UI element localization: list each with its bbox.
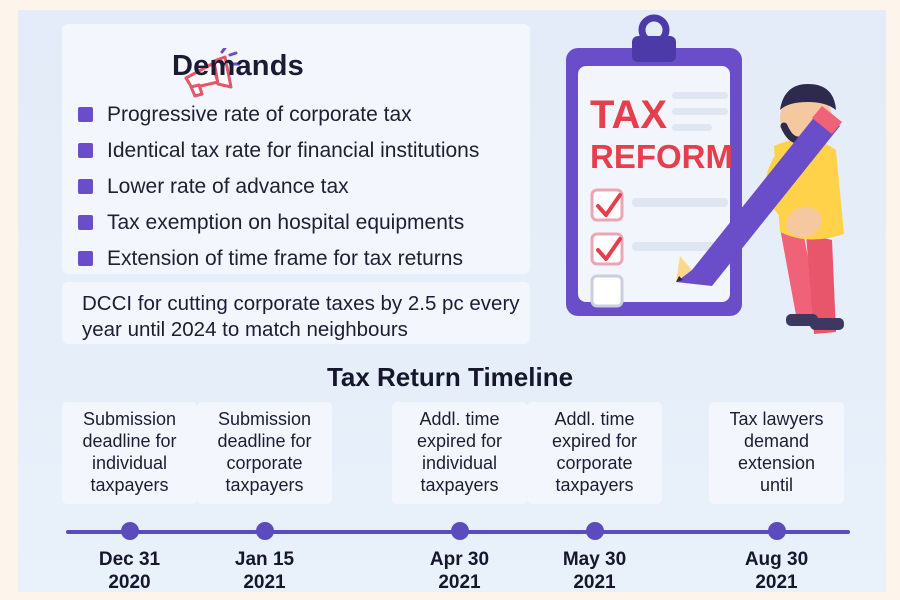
milestone-label-line: demand bbox=[713, 430, 840, 452]
milestone-label-line: taxpayers bbox=[201, 474, 328, 496]
illustration-heading-1: TAX bbox=[590, 93, 667, 137]
milestone-dot bbox=[121, 522, 139, 540]
milestone-dot bbox=[768, 522, 786, 540]
milestone-label-line: extension bbox=[713, 452, 840, 474]
illustration-heading-2: REFORM bbox=[590, 138, 733, 175]
tax-reform-illustration: TAX REFORM bbox=[548, 14, 878, 354]
milestone-date-year: 2021 bbox=[709, 571, 844, 594]
milestone-label-line: taxpayers bbox=[396, 474, 523, 496]
timeline-milestone-5: Tax lawyers demand extension until Aug 3… bbox=[709, 402, 844, 504]
milestone-date-day: May 30 bbox=[527, 548, 662, 571]
milestone-label-line: Addl. time bbox=[531, 408, 658, 430]
list-item: Lower rate of advance tax bbox=[78, 172, 530, 208]
list-item: Progressive rate of corporate tax bbox=[78, 100, 530, 136]
bullet-square-icon bbox=[78, 107, 93, 122]
milestone-label-line: expired for bbox=[396, 430, 523, 452]
milestone-date-day: Jan 15 bbox=[197, 548, 332, 571]
list-item-label: Identical tax rate for financial institu… bbox=[107, 136, 479, 166]
demands-list: Progressive rate of corporate tax Identi… bbox=[78, 100, 530, 280]
milestone-label-box: Addl. time expired for individual taxpay… bbox=[392, 402, 527, 504]
bullet-square-icon bbox=[78, 251, 93, 266]
milestone-label-line: deadline for bbox=[201, 430, 328, 452]
milestone-date: Jan 15 2021 bbox=[197, 548, 332, 594]
list-item: Identical tax rate for financial institu… bbox=[78, 136, 530, 172]
milestone-date: Aug 30 2021 bbox=[709, 548, 844, 594]
bullet-square-icon bbox=[78, 215, 93, 230]
milestone-dot bbox=[586, 522, 604, 540]
milestone-date-year: 2021 bbox=[527, 571, 662, 594]
milestone-date-year: 2020 bbox=[62, 571, 197, 594]
demands-card: Demands Progressive rate of corporate ta… bbox=[62, 24, 530, 274]
milestone-date-day: Aug 30 bbox=[709, 548, 844, 571]
milestone-date: May 30 2021 bbox=[527, 548, 662, 594]
milestone-label-box: Addl. time expired for corporate taxpaye… bbox=[527, 402, 662, 504]
milestone-label-line: individual bbox=[66, 452, 193, 474]
timeline-milestone-4: Addl. time expired for corporate taxpaye… bbox=[527, 402, 662, 504]
timeline-milestone-1: Submission deadline for individual taxpa… bbox=[62, 402, 197, 504]
milestone-label-line: Addl. time bbox=[396, 408, 523, 430]
milestone-label-line: corporate bbox=[201, 452, 328, 474]
timeline-milestone-2: Submission deadline for corporate taxpay… bbox=[197, 402, 332, 504]
list-item-label: Tax exemption on hospital equipments bbox=[107, 208, 464, 238]
timeline-milestone-3: Addl. time expired for individual taxpay… bbox=[392, 402, 527, 504]
milestone-label-box: Submission deadline for corporate taxpay… bbox=[197, 402, 332, 504]
list-item-label: Progressive rate of corporate tax bbox=[107, 100, 412, 130]
list-item: Extension of time frame for tax returns bbox=[78, 244, 530, 280]
milestone-dot bbox=[256, 522, 274, 540]
milestone-date-day: Apr 30 bbox=[392, 548, 527, 571]
milestone-label-box: Tax lawyers demand extension until bbox=[709, 402, 844, 504]
timeline-title: Tax Return Timeline bbox=[0, 362, 900, 393]
milestone-label-line: until bbox=[713, 474, 840, 496]
milestone-date-year: 2021 bbox=[392, 571, 527, 594]
milestone-date-year: 2021 bbox=[197, 571, 332, 594]
demands-title: Demands bbox=[172, 50, 304, 83]
bullet-square-icon bbox=[78, 179, 93, 194]
milestone-label-line: deadline for bbox=[66, 430, 193, 452]
dcci-note-card: DCCI for cutting corporate taxes by 2.5 … bbox=[62, 282, 530, 344]
list-item: Tax exemption on hospital equipments bbox=[78, 208, 530, 244]
milestone-label-line: Tax lawyers bbox=[713, 408, 840, 430]
milestone-label-line: taxpayers bbox=[531, 474, 658, 496]
list-item-label: Extension of time frame for tax returns bbox=[107, 244, 463, 274]
milestone-label-line: expired for bbox=[531, 430, 658, 452]
milestone-date: Apr 30 2021 bbox=[392, 548, 527, 594]
milestone-label-line: Submission bbox=[66, 408, 193, 430]
milestone-label-line: corporate bbox=[531, 452, 658, 474]
milestone-date-day: Dec 31 bbox=[62, 548, 197, 571]
timeline: Submission deadline for individual taxpa… bbox=[56, 402, 856, 592]
list-item-label: Lower rate of advance tax bbox=[107, 172, 349, 202]
dcci-note-text: DCCI for cutting corporate taxes by 2.5 … bbox=[82, 291, 522, 343]
milestone-date: Dec 31 2020 bbox=[62, 548, 197, 594]
infographic-root: Demands Progressive rate of corporate ta… bbox=[0, 0, 900, 600]
milestone-label-line: taxpayers bbox=[66, 474, 193, 496]
bullet-square-icon bbox=[78, 143, 93, 158]
milestone-dot bbox=[451, 522, 469, 540]
milestone-label-box: Submission deadline for individual taxpa… bbox=[62, 402, 197, 504]
milestone-label-line: individual bbox=[396, 452, 523, 474]
milestone-label-line: Submission bbox=[201, 408, 328, 430]
